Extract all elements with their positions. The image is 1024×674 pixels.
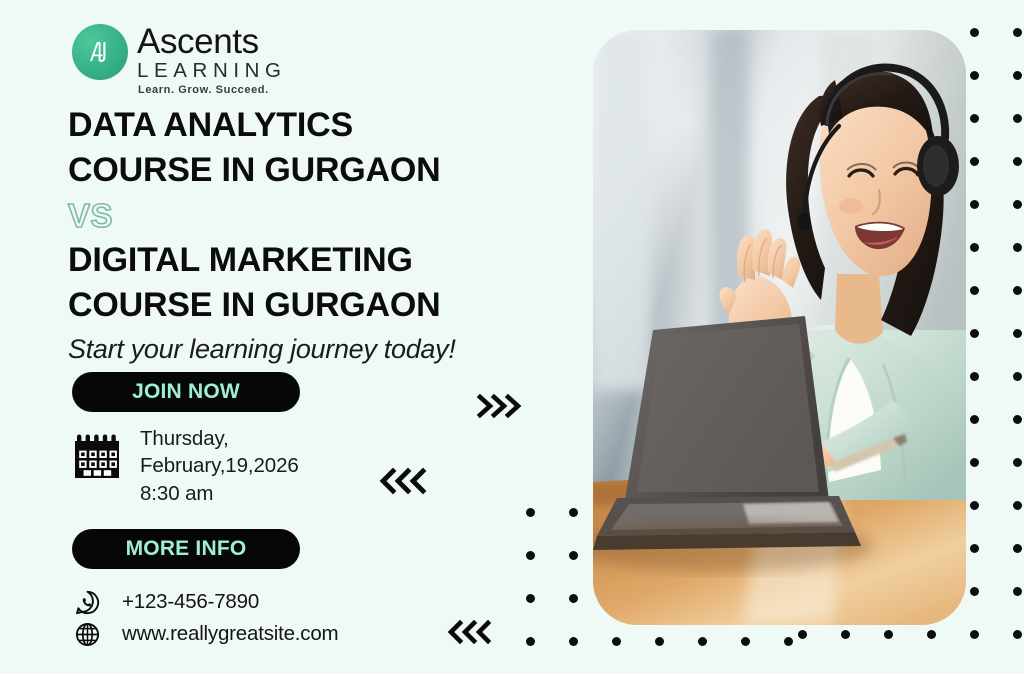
dot (1013, 286, 1022, 295)
dot (526, 508, 535, 517)
join-now-label: JOIN NOW (132, 380, 240, 404)
headline-versus: VS (68, 193, 538, 239)
dot (970, 544, 979, 553)
hero-photo (593, 30, 966, 625)
dot (927, 630, 936, 639)
dot (841, 630, 850, 639)
dot (970, 71, 979, 80)
dot (970, 329, 979, 338)
dot (970, 458, 979, 467)
dot (526, 637, 535, 646)
dot (1013, 329, 1022, 338)
event-time: 8:30 am (140, 480, 299, 507)
logo-subtitle: LEARNING (137, 60, 287, 82)
headline-block: DATA ANALYTICS COURSE IN GURGAON VS DIGI… (68, 103, 538, 367)
dot (970, 630, 979, 639)
calendar-icon (71, 428, 127, 489)
dot (970, 501, 979, 510)
dot (970, 200, 979, 209)
dot (612, 637, 621, 646)
dot (970, 587, 979, 596)
dot (1013, 71, 1022, 80)
phone-number: +123-456-7890 (122, 590, 259, 614)
headline-line-2: COURSE IN GURGAON (68, 148, 538, 193)
join-now-button[interactable]: JOIN NOW (72, 372, 300, 412)
dot (970, 243, 979, 252)
brand-logo: Ascents LEARNING Learn. Grow. Succeed. (72, 24, 287, 96)
dot (1013, 28, 1022, 37)
dot (798, 630, 807, 639)
dot (970, 114, 979, 123)
whatsapp-icon (74, 590, 100, 615)
dot (970, 28, 979, 37)
dot (784, 637, 793, 646)
headline-line-1: DATA ANALYTICS (68, 103, 538, 148)
dot (1013, 243, 1022, 252)
globe-icon (74, 622, 100, 647)
chevrons-left-decoration-1 (379, 466, 427, 496)
contact-row-phone[interactable]: +123-456-7890 (74, 586, 338, 618)
promo-banner: Ascents LEARNING Learn. Grow. Succeed. D… (0, 0, 1024, 674)
chevrons-left-decoration-2 (447, 618, 493, 646)
dot (569, 551, 578, 560)
dot (655, 637, 664, 646)
more-info-button[interactable]: MORE INFO (72, 529, 300, 569)
event-date-block: Thursday, February,19,2026 8:30 am (71, 425, 299, 507)
dot (526, 551, 535, 560)
dot (569, 508, 578, 517)
logo-mark-icon (72, 24, 128, 80)
dot (1013, 458, 1022, 467)
dot (970, 372, 979, 381)
more-info-label: MORE INFO (126, 537, 247, 561)
dot (1013, 157, 1022, 166)
dot (884, 630, 893, 639)
dot (1013, 587, 1022, 596)
dot (698, 637, 707, 646)
dot (569, 594, 578, 603)
dot (1013, 200, 1022, 209)
dot (970, 415, 979, 424)
contact-row-website[interactable]: www.reallygreatsite.com (74, 618, 338, 650)
dot (970, 157, 979, 166)
dot (1013, 544, 1022, 553)
headline-line-3: DIGITAL MARKETING (68, 238, 538, 283)
dot (1013, 372, 1022, 381)
website-url: www.reallygreatsite.com (122, 622, 338, 646)
dot (1013, 630, 1022, 639)
dot (741, 637, 750, 646)
dot (970, 286, 979, 295)
logo-tagline: Learn. Grow. Succeed. (138, 84, 287, 96)
dot (1013, 501, 1022, 510)
event-day: Thursday, (140, 425, 299, 452)
subheadline-tagline: Start your learning journey today! (68, 332, 538, 367)
contact-block: +123-456-7890 www.reallygreatsite.com (74, 586, 338, 650)
dot (569, 637, 578, 646)
dot (1013, 415, 1022, 424)
dot (1013, 114, 1022, 123)
event-date: February,19,2026 (140, 452, 299, 479)
headline-line-4: COURSE IN GURGAON (68, 283, 538, 328)
dot (526, 594, 535, 603)
logo-name: Ascents (137, 25, 287, 59)
chevrons-right-decoration (476, 392, 524, 420)
